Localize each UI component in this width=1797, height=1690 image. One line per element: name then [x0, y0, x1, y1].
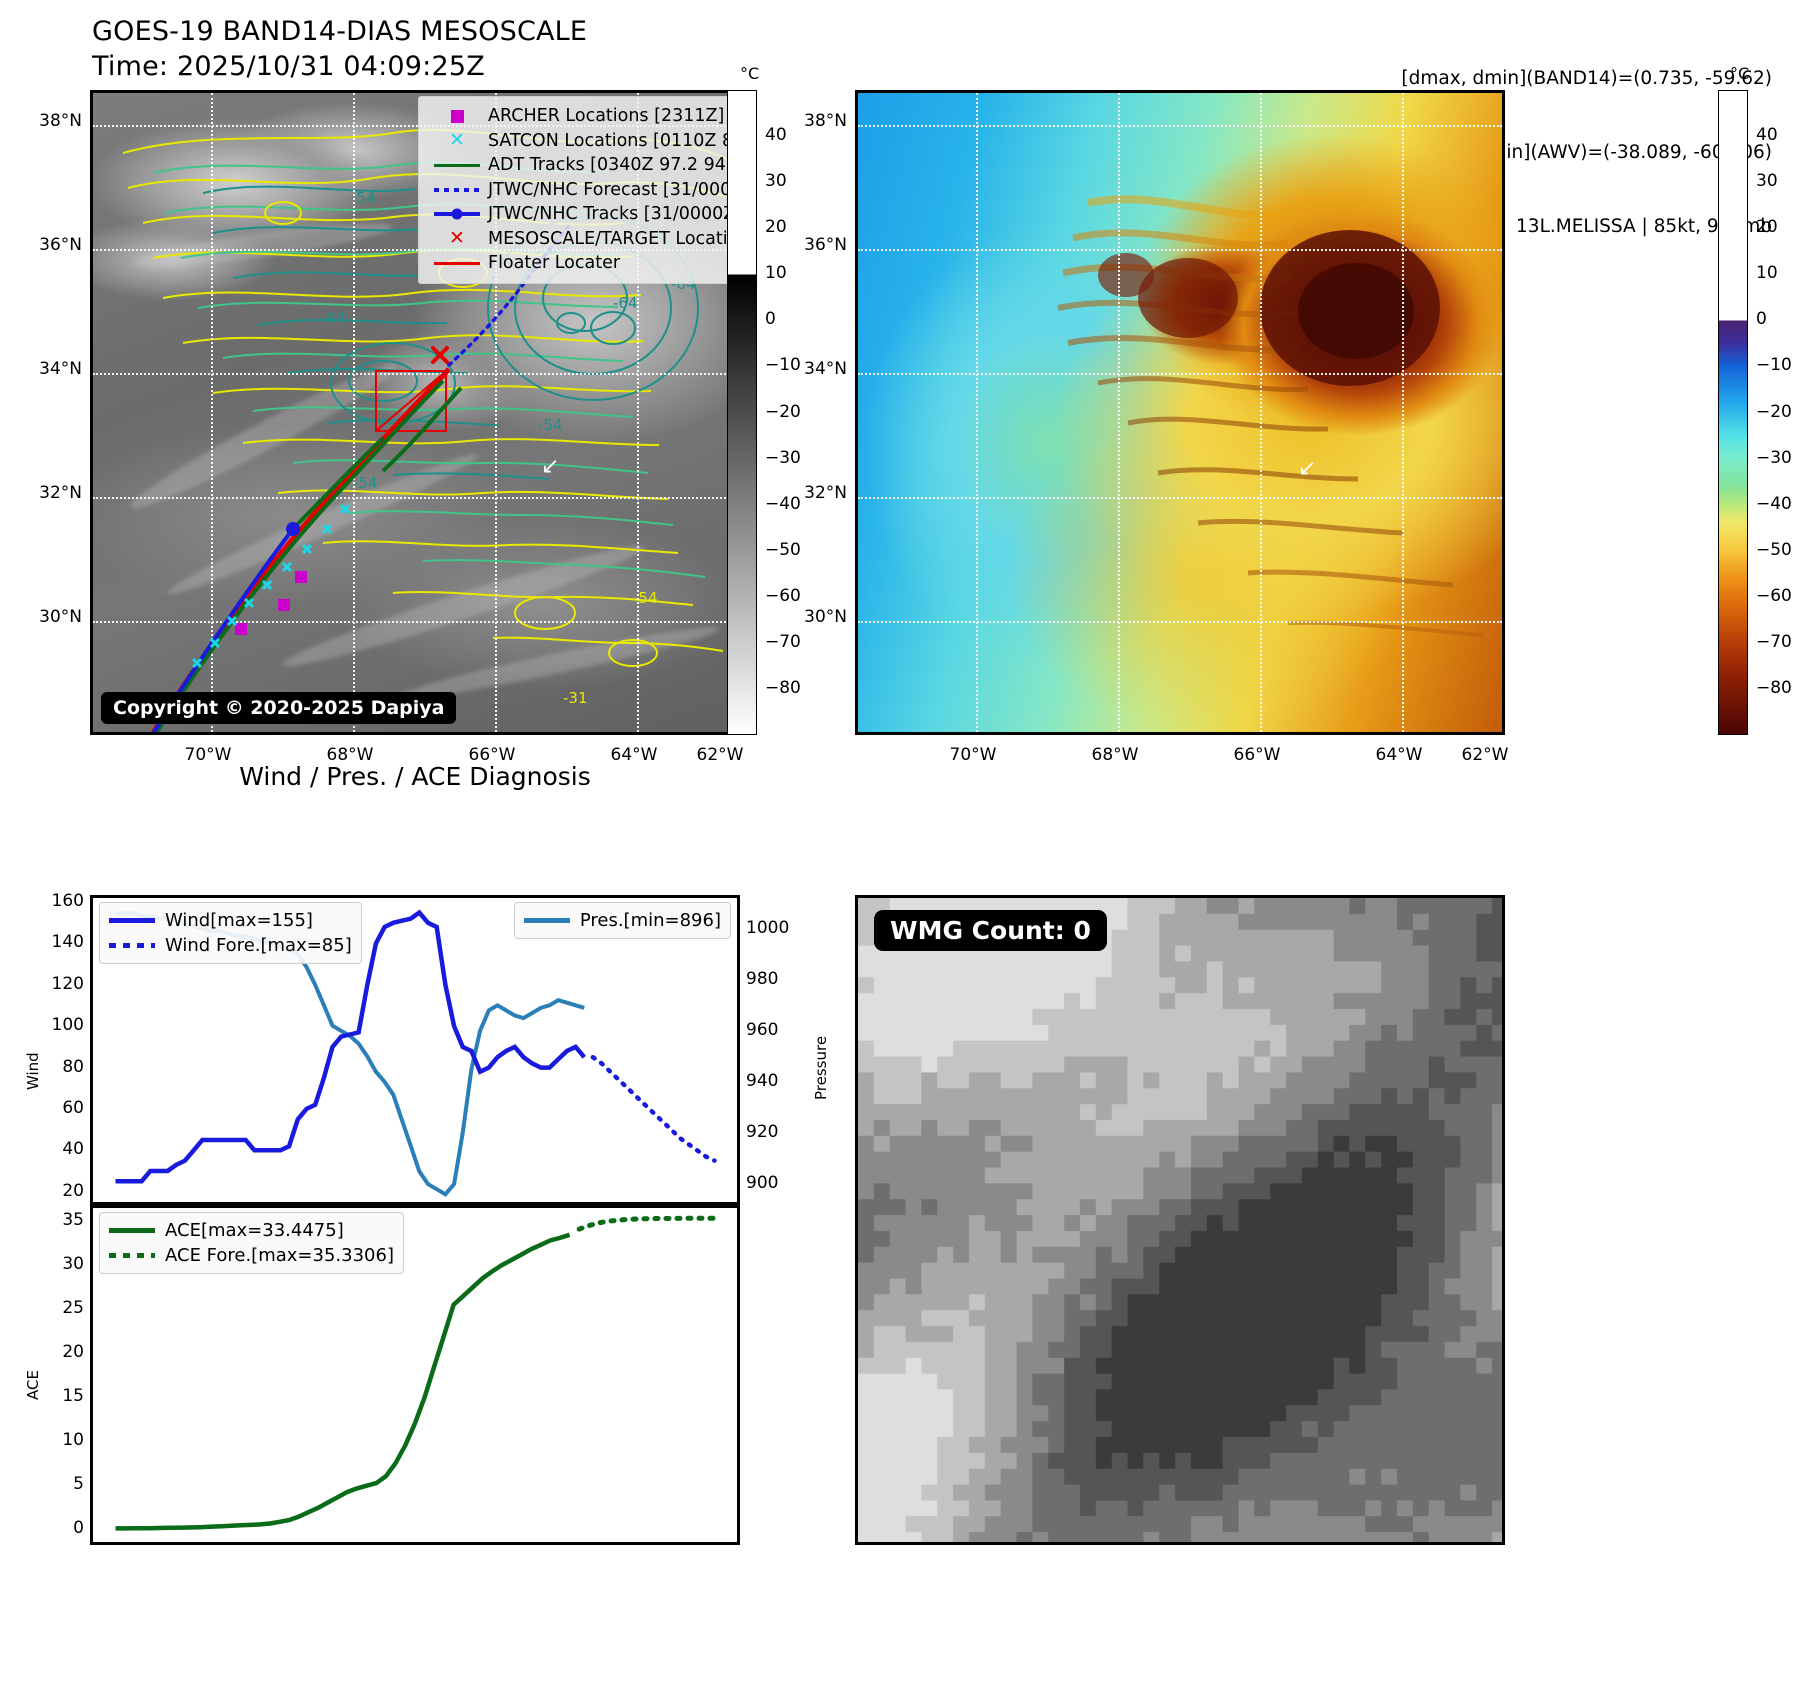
cyan-x-icon: ✕ [426, 131, 488, 150]
colorbar-left-unit: °C [740, 64, 759, 83]
gridline-lon [1260, 93, 1262, 732]
title-instrument: GOES-19 BAND14-DIAS MESOSCALE [92, 16, 587, 47]
axis-tick: 10 [28, 1430, 84, 1450]
gridline-lon [1118, 93, 1120, 732]
axis-tick: 920 [746, 1122, 802, 1142]
lon-tick: 70°W [943, 745, 1003, 765]
wmg-count-badge: WMG Count: 0 [874, 910, 1107, 951]
axis-tick: 15 [28, 1386, 84, 1406]
ir-grey-map[interactable]: -54 -64 -64 -54 -64 -54 -54 -31 [90, 90, 740, 735]
lat-tick: 34°N [787, 359, 847, 379]
colorbar-tick: 20 [765, 217, 787, 237]
gridline-lat [858, 621, 1502, 623]
colorbar-tick: 30 [1756, 171, 1778, 191]
lat-tick: 30°N [22, 607, 82, 627]
colorbar-tick: 40 [765, 125, 787, 145]
lon-tick: 68°W [1085, 745, 1145, 765]
axis-tick: 35 [28, 1210, 84, 1230]
legend-label: ARCHER Locations [2311Z] [488, 106, 724, 126]
colorbar-tick: −70 [765, 632, 801, 652]
color-ir-map[interactable]: ↙ [855, 90, 1505, 735]
legend-label: SATCON Locations [0110Z 83 956] [488, 131, 740, 151]
legend-item-satcon: ✕ SATCON Locations [0110Z 83 956] [426, 129, 740, 154]
colorbar-tick: −60 [1756, 586, 1792, 606]
svg-text:↙: ↙ [541, 454, 559, 479]
colorbar-tick: 30 [765, 171, 787, 191]
legend-item-ace-forecast: ACE Fore.[max=35.3306] [109, 1243, 394, 1268]
wmg-map[interactable]: WMG Count: 0 [855, 895, 1505, 1545]
legend-label: Wind[max=155] [165, 910, 313, 931]
legend-item-ace: ACE[max=33.4475] [109, 1218, 394, 1243]
axis-tick: 960 [746, 1020, 802, 1040]
legend-label: ACE Fore.[max=35.3306] [165, 1245, 394, 1266]
axis-tick: 25 [28, 1298, 84, 1318]
lat-tick: 36°N [787, 235, 847, 255]
colorbar-tick: −20 [1756, 402, 1792, 422]
axis-tick: 100 [28, 1015, 84, 1035]
legend-label: Floater Locater [488, 253, 620, 273]
map-legend: ARCHER Locations [2311Z] ✕ SATCON Locati… [418, 96, 740, 284]
red-line-icon [426, 262, 488, 266]
chart-group-title: Wind / Pres. / ACE Diagnosis [90, 762, 740, 791]
legend-item-mesoscale-target: ✕ MESOSCALE/TARGET Location [426, 227, 740, 252]
colorbar-tick: −70 [1756, 632, 1792, 652]
axis-tick: 120 [28, 974, 84, 994]
axis-tick: 20 [28, 1342, 84, 1362]
lon-tick: 64°W [1369, 745, 1429, 765]
dmax-dmin-band14: [dmax, dmin](BAND14)=(0.735, -59.62) [1152, 67, 1772, 92]
colorbar-tick: −40 [1756, 494, 1792, 514]
legend-label: ADT Tracks [0340Z 97.2 942.6] [488, 155, 740, 175]
axis-tick: 160 [28, 891, 84, 911]
blue-dotted-line-icon [109, 943, 165, 948]
colorbar-tick: −80 [765, 678, 801, 698]
gridline-lon [1402, 93, 1404, 732]
copyright-badge: Copyright © 2020-2025 Dapiya [101, 692, 456, 724]
magenta-square-icon [426, 110, 488, 123]
colorbar-tick: −20 [765, 402, 801, 422]
teal-solid-line-icon [524, 918, 580, 923]
red-x-icon: ✕ [426, 229, 488, 248]
colorbar-tick: 40 [1756, 125, 1778, 145]
axis-tick: 60 [28, 1098, 84, 1118]
green-dotted-line-icon [109, 1253, 165, 1258]
axis-tick: 900 [746, 1173, 802, 1193]
legend-item-pressure: Pres.[min=896] [524, 908, 721, 933]
axis-tick: 980 [746, 969, 802, 989]
colorbar-right [1718, 90, 1748, 735]
legend-label: Pres.[min=896] [580, 910, 721, 931]
green-line-icon [426, 164, 488, 168]
colorbar-tick: −80 [1756, 678, 1792, 698]
title-timestamp: Time: 2025/10/31 04:09:25Z [92, 51, 587, 82]
colorbar-tick: 20 [1756, 217, 1778, 237]
lat-tick: 38°N [22, 111, 82, 131]
colorbar-tick: 10 [1756, 263, 1778, 283]
colorbar-tick: −50 [1756, 540, 1792, 560]
legend-item-jtwc-tracks: JTWC/NHC Tracks [31/0000Z] [426, 202, 740, 227]
lat-tick: 36°N [22, 235, 82, 255]
legend-item-jtwc-forecast: JTWC/NHC Forecast [31/0000Z] [426, 178, 740, 203]
gridline-lat [858, 125, 1502, 127]
pressure-chart-legend: Pres.[min=896] [514, 902, 731, 939]
colorbar-tick: −30 [765, 448, 801, 468]
colorbar-tick: −50 [765, 540, 801, 560]
colorbar-left [727, 90, 757, 735]
lat-tick: 32°N [22, 483, 82, 503]
gridline-lat [858, 497, 1502, 499]
legend-item-wind: Wind[max=155] [109, 908, 352, 933]
legend-item-wind-forecast: Wind Fore.[max=85] [109, 933, 352, 958]
lat-tick: 38°N [787, 111, 847, 131]
ace-chart[interactable]: ACE[max=33.4475] ACE Fore.[max=35.3306] [90, 1205, 740, 1545]
gridline-lat [858, 249, 1502, 251]
lat-tick: 30°N [787, 607, 847, 627]
gridline-lat [858, 373, 1502, 375]
convective-bands: ↙ [858, 93, 1505, 735]
colorbar-tick: −60 [765, 586, 801, 606]
lat-tick: 34°N [22, 359, 82, 379]
blue-line-marker-icon [426, 212, 488, 216]
axis-tick: 1000 [746, 918, 802, 938]
lon-tick: 66°W [1227, 745, 1287, 765]
axis-tick: 140 [28, 932, 84, 952]
blue-dotted-line-icon [426, 188, 488, 192]
wind-chart-legend: Wind[max=155] Wind Fore.[max=85] [99, 902, 362, 964]
axis-tick: 80 [28, 1057, 84, 1077]
axis-tick: 0 [28, 1518, 84, 1538]
colorbar-tick: −10 [1756, 355, 1792, 375]
legend-item-floater-locater: Floater Locater [426, 251, 740, 276]
colorbar-tick: −30 [1756, 448, 1792, 468]
lon-tick: 62°W [1455, 745, 1515, 765]
gridline-lon [976, 93, 978, 732]
colorbar-right-unit: °C [1730, 64, 1749, 83]
legend-item-adt-tracks: ADT Tracks [0340Z 97.2 942.6] [426, 153, 740, 178]
legend-label: Wind Fore.[max=85] [165, 935, 352, 956]
axis-tick: 20 [28, 1181, 84, 1201]
legend-label: MESOSCALE/TARGET Location [488, 229, 740, 249]
blue-solid-line-icon [109, 918, 165, 923]
ace-chart-legend: ACE[max=33.4475] ACE Fore.[max=35.3306] [99, 1212, 404, 1274]
legend-label: JTWC/NHC Tracks [31/0000Z] [488, 204, 740, 224]
svg-text:↙: ↙ [1298, 456, 1316, 481]
legend-item-archer: ARCHER Locations [2311Z] [426, 104, 740, 129]
legend-label: JTWC/NHC Forecast [31/0000Z] [488, 180, 740, 200]
wind-pressure-chart[interactable]: Wind[max=155] Wind Fore.[max=85] Pres.[m… [90, 895, 740, 1205]
axis-tick: 30 [28, 1254, 84, 1274]
colorbar-tick: 0 [1756, 309, 1767, 329]
legend-label: ACE[max=33.4475] [165, 1220, 344, 1241]
page-title: GOES-19 BAND14-DIAS MESOSCALE Time: 2025… [92, 16, 587, 82]
colorbar-tick: 0 [765, 309, 776, 329]
axis-tick: 40 [28, 1139, 84, 1159]
axis-tick: 940 [746, 1071, 802, 1091]
colorbar-tick: 10 [765, 263, 787, 283]
lat-tick: 32°N [787, 483, 847, 503]
pressure-axis-label: Pressure [812, 1036, 830, 1100]
axis-tick: 5 [28, 1474, 84, 1494]
green-solid-line-icon [109, 1228, 165, 1233]
wmg-imagery [858, 898, 1502, 1542]
